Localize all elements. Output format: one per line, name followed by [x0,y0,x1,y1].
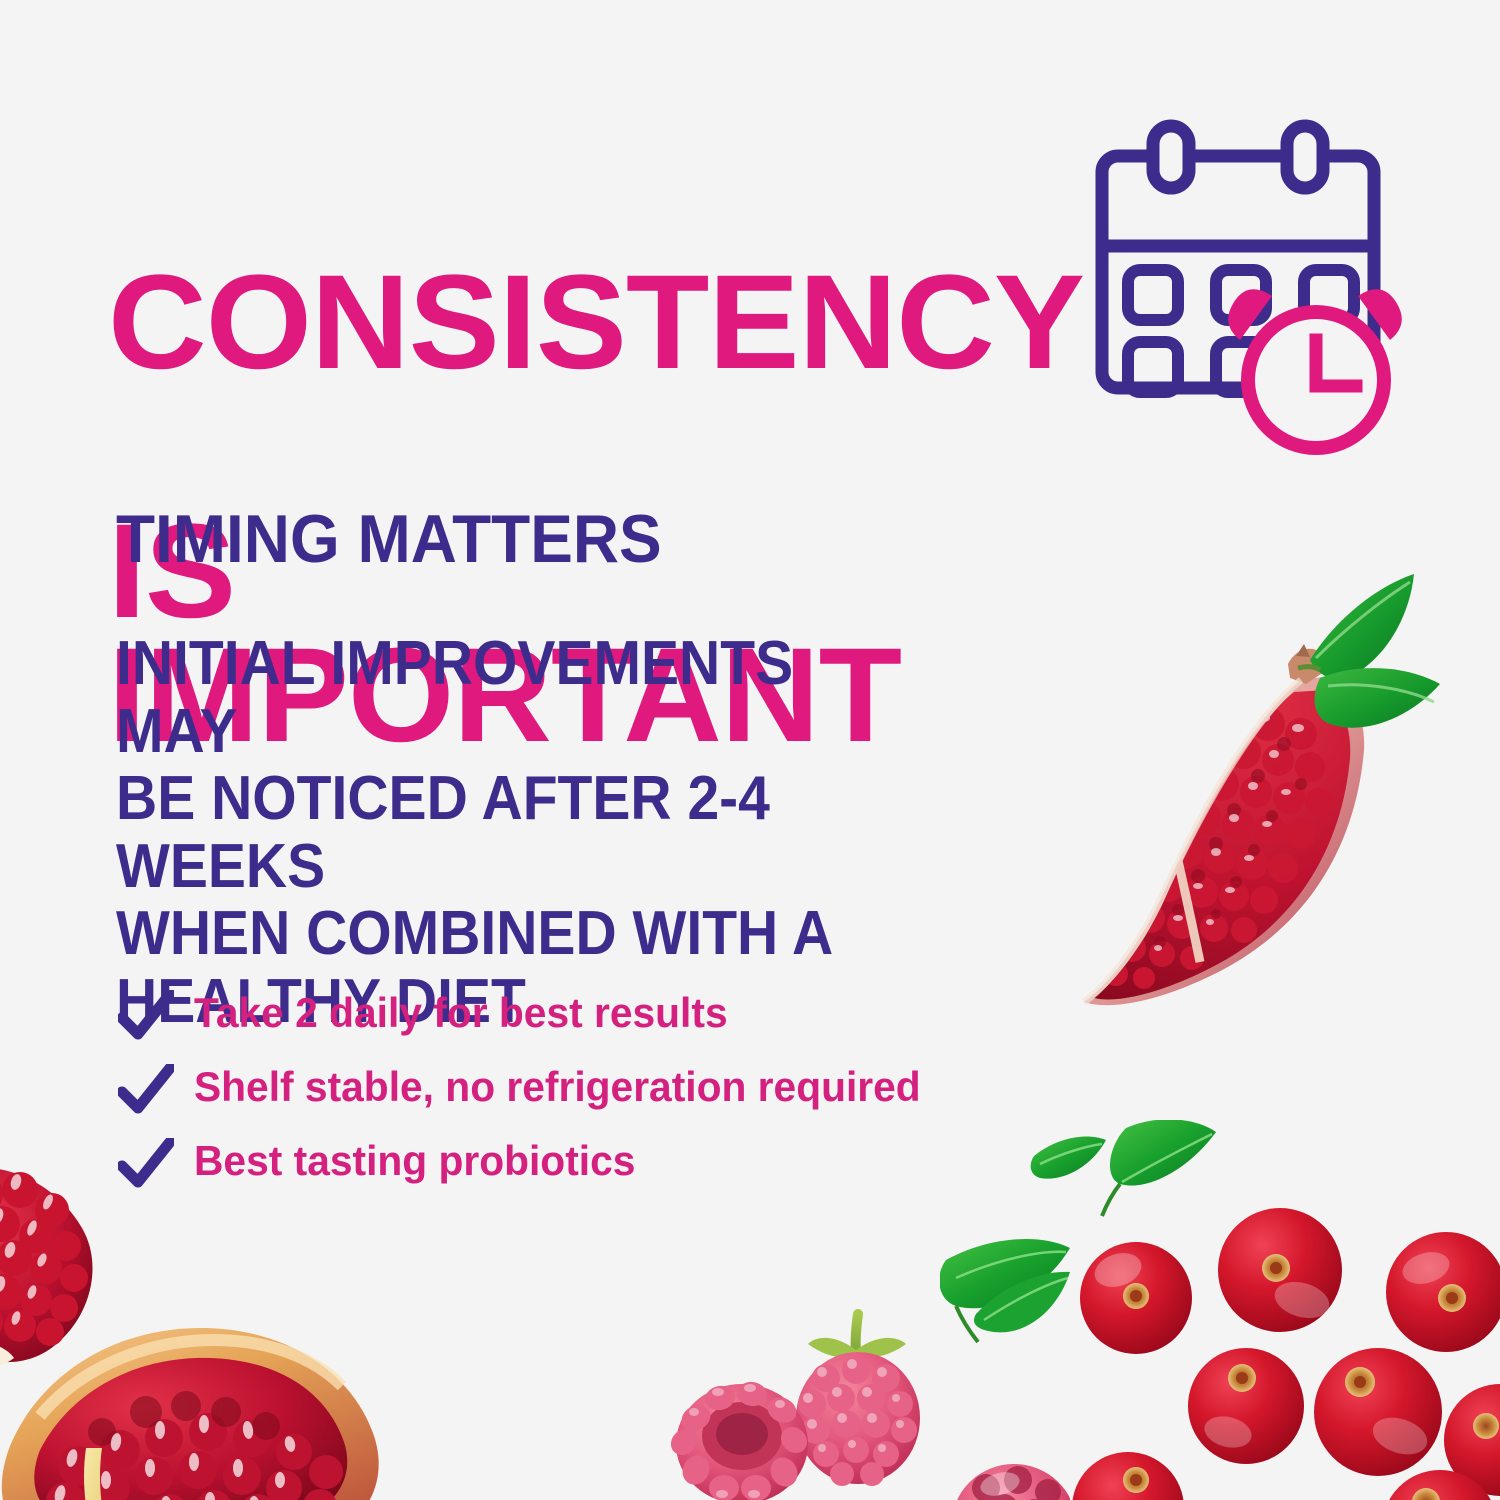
list-item-label: Take 2 daily for best results [194,988,728,1038]
body-line-1: INITIAL IMPROVEMENTS MAY [116,630,916,765]
list-item-label: Best tasting probiotics [194,1136,635,1186]
check-icon [118,1064,174,1116]
section-subhead: TIMING MATTERS [116,505,662,573]
raspberries [670,1270,1070,1500]
list-item: Best tasting probiotics [118,1136,1078,1210]
list-item: Shelf stable, no refrigeration required [118,1062,1078,1136]
list-item-label: Shelf stable, no refrigeration required [194,1062,921,1112]
check-icon [118,1138,174,1190]
feature-list: Take 2 daily for best results Shelf stab… [118,988,1078,1210]
list-item: Take 2 daily for best results [118,988,1078,1062]
headline-line-1: CONSISTENCY [108,261,1046,386]
body-line-3: WHEN COMBINED WITH A [116,900,916,968]
check-icon [118,990,174,1042]
body-line-2: BE NOTICED AFTER 2-4 WEEKS [116,765,916,900]
body-paragraph: INITIAL IMPROVEMENTS MAY BE NOTICED AFTE… [116,630,916,1035]
pomegranate-wedge-with-leaves [1058,552,1500,1022]
calendar-alarm-clock-icon [1088,118,1418,458]
promo-graphic: CONSISTENCY IS IMPORTANT [0,0,1500,1500]
